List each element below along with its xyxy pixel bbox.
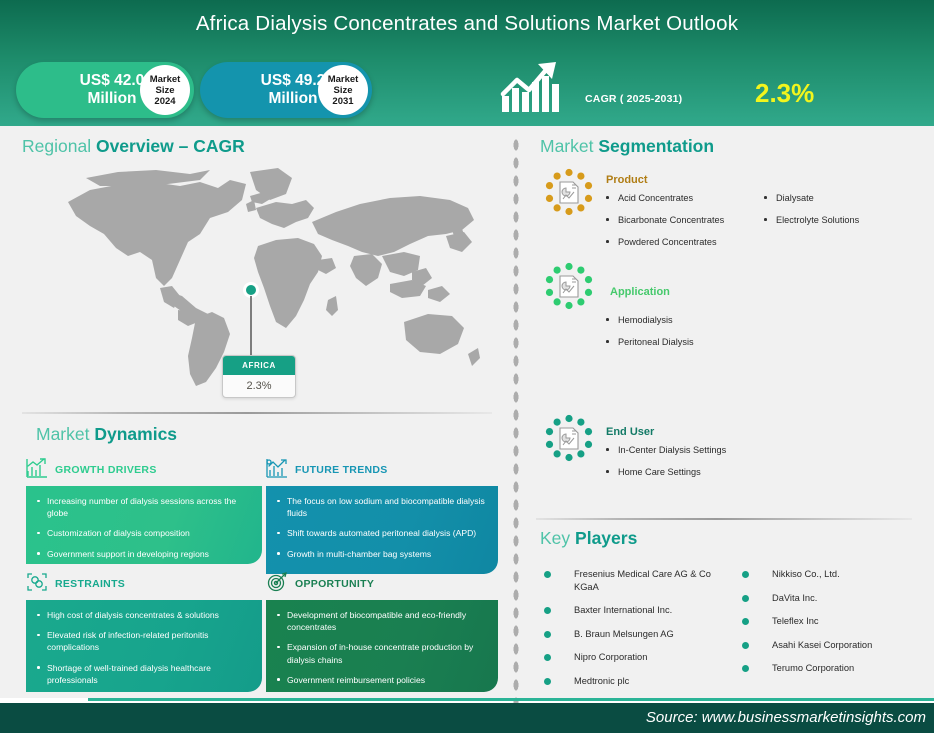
regional-heading-light: Regional xyxy=(22,136,96,156)
list-item: Hemodialysis xyxy=(602,314,802,326)
key-players-top-divider xyxy=(536,518,912,520)
market-size-2024-line2: Million xyxy=(87,90,136,107)
key-players-list-col1: Fresenius Medical Care AG & Co KGaA Baxt… xyxy=(544,568,724,698)
list-item: Teleflex Inc xyxy=(742,615,932,628)
opportunity-block: OPPORTUNITY Development of biocompatible… xyxy=(266,572,498,692)
growth-drivers-header: GROWTH DRIVERS xyxy=(26,458,262,482)
trend-analytics-icon xyxy=(266,458,288,483)
key-players-heading-light: Key xyxy=(540,528,575,548)
dynamics-heading-light: Market xyxy=(36,424,94,444)
segment-application-title: Application xyxy=(610,286,670,298)
footer-accent-line xyxy=(88,698,934,701)
opportunity-label: OPPORTUNITY xyxy=(295,578,374,590)
list-item: Expansion of in-house concentrate produc… xyxy=(274,641,488,665)
future-trends-label: FUTURE TRENDS xyxy=(295,464,388,476)
target-dartboard-icon xyxy=(266,572,288,597)
restraints-box: High cost of dialysis concentrates & sol… xyxy=(26,600,262,692)
list-item: Growth in multi-chamber bag systems xyxy=(274,548,488,560)
list-item: DaVita Inc. xyxy=(742,592,932,605)
restraints-label: RESTRAINTS xyxy=(55,578,125,590)
dynamics-heading-bold: Dynamics xyxy=(94,424,177,444)
list-item: Nipro Corporation xyxy=(544,651,724,664)
badge-line-3: 2031 xyxy=(332,96,353,107)
market-size-2031-line1: US$ 49.2 xyxy=(261,72,326,89)
market-dynamics-heading: Market Dynamics xyxy=(36,424,177,445)
segment-application-list: Hemodialysis Peritoneal Dialysis xyxy=(602,314,802,358)
restraints-header: RESTRAINTS xyxy=(26,572,262,596)
growth-drivers-block: GROWTH DRIVERS Increasing number of dial… xyxy=(26,458,262,564)
list-item: Customization of dialysis composition xyxy=(34,527,252,539)
badge-line-2: Size xyxy=(155,85,174,96)
vertical-dotted-divider xyxy=(512,136,520,704)
opportunity-header: OPPORTUNITY xyxy=(266,572,498,596)
list-item: Increasing number of dialysis sessions a… xyxy=(34,495,252,519)
list-item: Acid Concentrates xyxy=(602,192,762,204)
africa-callout-region: AFRICA xyxy=(223,356,295,375)
list-item: Government reimbursement policies xyxy=(274,674,488,686)
growth-chart-icon xyxy=(500,58,566,114)
page-title: Africa Dialysis Concentrates and Solutio… xyxy=(0,12,934,36)
list-item: Shift towards automated peritoneal dialy… xyxy=(274,527,488,539)
infographic-page: Africa Dialysis Concentrates and Solutio… xyxy=(0,0,948,737)
list-item: Powdered Concentrates xyxy=(602,236,762,248)
future-trends-box: The focus on low sodium and biocompatibl… xyxy=(266,486,498,574)
list-item: Government support in developing regions xyxy=(34,548,252,560)
list-item: Shortage of well-trained dialysis health… xyxy=(34,662,252,686)
market-size-2024-pill: US$ 42.0 Million Market Size 2024 xyxy=(16,62,194,118)
segmentation-heading-bold: Segmentation xyxy=(598,136,714,156)
list-item: Bicarbonate Concentrates xyxy=(602,214,762,226)
report-document-icon xyxy=(542,414,596,468)
restraints-list: High cost of dialysis concentrates & sol… xyxy=(34,609,252,686)
segment-end-user-title: End User xyxy=(606,426,654,438)
market-size-2024-badge: Market Size 2024 xyxy=(140,65,190,115)
future-trends-block: FUTURE TRENDS The focus on low sodium an… xyxy=(266,458,498,574)
list-item: The focus on low sodium and biocompatibl… xyxy=(274,495,488,519)
segmentation-heading-light: Market xyxy=(540,136,598,156)
list-item: In-Center Dialysis Settings xyxy=(602,444,822,456)
growth-drivers-list: Increasing number of dialysis sessions a… xyxy=(34,495,252,560)
restraints-block: RESTRAINTS High cost of dialysis concent… xyxy=(26,572,262,692)
list-item: Asahi Kasei Corporation xyxy=(742,639,932,652)
market-size-2031-pill: US$ 49.2 Million Market Size 2031 xyxy=(200,62,372,118)
africa-callout-value: 2.3% xyxy=(223,375,295,397)
segment-product-title: Product xyxy=(606,174,648,186)
segment-end-user-list: In-Center Dialysis Settings Home Care Se… xyxy=(602,444,822,488)
regional-heading-bold: Overview – CAGR xyxy=(96,136,245,156)
dynamics-top-divider xyxy=(22,412,492,414)
bar-chart-growth-icon xyxy=(26,458,48,483)
list-item: Development of biocompatible and eco-fri… xyxy=(274,609,488,633)
badge-line-2: Size xyxy=(333,85,352,96)
list-item: Electrolyte Solutions xyxy=(760,214,930,226)
market-segmentation-heading: Market Segmentation xyxy=(540,136,714,157)
list-item: Elevated risk of infection-related perit… xyxy=(34,629,252,653)
list-item: Home Care Settings xyxy=(602,466,822,478)
africa-callout: AFRICA 2.3% xyxy=(222,355,296,398)
badge-line-3: 2024 xyxy=(154,96,175,107)
key-players-list-col2: Nikkiso Co., Ltd. DaVita Inc. Teleflex I… xyxy=(742,568,932,686)
opportunity-box: Development of biocompatible and eco-fri… xyxy=(266,600,498,692)
list-item: Nikkiso Co., Ltd. xyxy=(742,568,932,581)
regional-overview-heading: Regional Overview – CAGR xyxy=(22,136,245,157)
badge-line-1: Market xyxy=(328,74,359,85)
cagr-value: 2.3% xyxy=(755,78,814,109)
cagr-label: CAGR ( 2025-2031) xyxy=(585,93,682,105)
source-text: Source: www.businessmarketinsights.com xyxy=(646,709,926,726)
key-players-heading-bold: Players xyxy=(575,528,637,548)
list-item: Fresenius Medical Care AG & Co KGaA xyxy=(544,568,724,593)
list-item: High cost of dialysis concentrates & sol… xyxy=(34,609,252,621)
list-item: Dialysate xyxy=(760,192,930,204)
header-banner: Africa Dialysis Concentrates and Solutio… xyxy=(0,0,934,126)
market-size-2024-line1: US$ 42.0 xyxy=(80,72,145,89)
list-item: Peritoneal Dialysis xyxy=(602,336,802,348)
growth-drivers-box: Increasing number of dialysis sessions a… xyxy=(26,486,262,564)
list-item: Terumo Corporation xyxy=(742,662,932,675)
segment-product-list-col2: Dialysate Electrolyte Solutions xyxy=(760,192,930,236)
market-size-2031-badge: Market Size 2031 xyxy=(318,65,368,115)
list-item: Baxter International Inc. xyxy=(544,604,724,617)
market-size-2031-line2: Million xyxy=(268,90,317,107)
report-document-icon xyxy=(542,168,596,222)
opportunity-list: Development of biocompatible and eco-fri… xyxy=(274,609,488,686)
report-document-icon xyxy=(542,262,596,316)
callout-connector-line xyxy=(250,296,252,356)
restraint-link-icon xyxy=(26,572,48,597)
growth-drivers-label: GROWTH DRIVERS xyxy=(55,464,157,476)
list-item: Medtronic plc xyxy=(544,675,724,688)
list-item: B. Braun Melsungen AG xyxy=(544,628,724,641)
segment-product-list-col1: Acid Concentrates Bicarbonate Concentrat… xyxy=(602,192,762,258)
key-players-heading: Key Players xyxy=(540,528,637,549)
future-trends-list: The focus on low sodium and biocompatibl… xyxy=(274,495,488,560)
future-trends-header: FUTURE TRENDS xyxy=(266,458,498,482)
badge-line-1: Market xyxy=(150,74,181,85)
